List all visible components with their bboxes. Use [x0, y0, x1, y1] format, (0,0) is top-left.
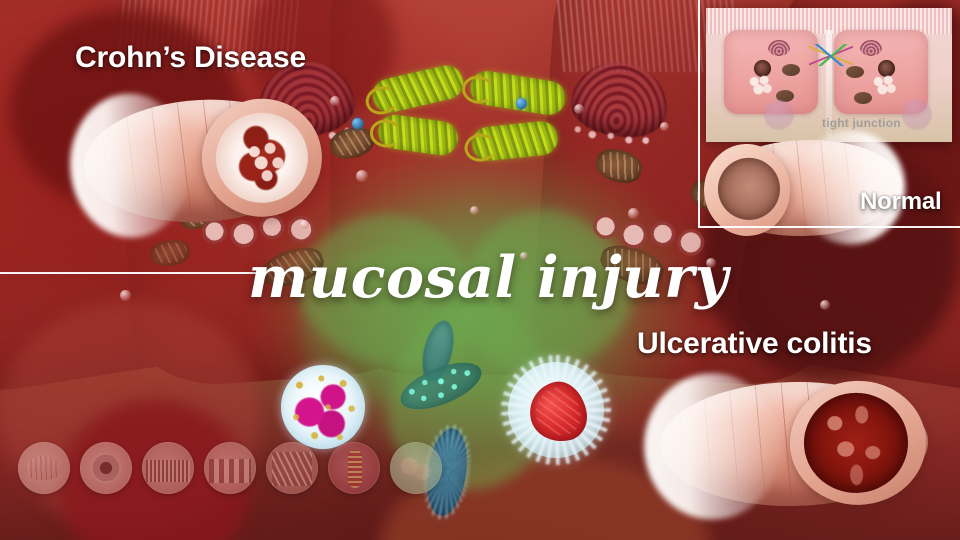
title-divider-rule — [0, 272, 258, 274]
mitochondrion-icon — [846, 66, 864, 78]
golgi-apparatus-icon — [768, 40, 790, 56]
normal-inset-panel[interactable]: tight junction — [706, 8, 952, 142]
cytoplasm-blob — [902, 100, 932, 130]
chapter-thumbnail-strip[interactable] — [18, 442, 442, 494]
macrophage-cell — [508, 362, 604, 458]
secretory-vesicle — [330, 96, 340, 106]
secretory-vesicle — [120, 290, 131, 301]
chapter-thumbnail[interactable] — [80, 442, 132, 494]
secretory-vesicle — [628, 208, 639, 219]
colon-lumen-ulcerated — [803, 392, 909, 494]
crohn-disease-label: Crohn’s Disease — [75, 41, 306, 75]
mitochondrion-icon — [782, 64, 800, 76]
cobblestone-mucosa — [245, 139, 291, 185]
chapter-thumbnail[interactable] — [266, 442, 318, 494]
secretory-vesicle — [574, 104, 584, 114]
tight-junction-label: tight junction — [822, 116, 901, 130]
secretory-vesicle — [660, 122, 669, 131]
chapter-thumbnail[interactable] — [204, 442, 256, 494]
page-title: mucosal injury — [248, 244, 728, 311]
uc-colon-specimen — [659, 380, 923, 509]
secretory-vesicle — [356, 170, 368, 182]
chapter-thumbnail[interactable] — [390, 442, 442, 494]
secretory-vesicle — [820, 300, 830, 310]
ion-particle — [516, 98, 527, 109]
chapter-thumbnail[interactable] — [18, 442, 70, 494]
normal-label: Normal — [860, 188, 942, 216]
cytoplasm-blob — [764, 100, 794, 130]
mitochondrion-icon — [854, 92, 872, 104]
rough-endoplasmic-reticulum-icon — [872, 74, 898, 96]
chapter-thumbnail[interactable] — [328, 442, 380, 494]
rough-endoplasmic-reticulum-icon — [748, 74, 774, 96]
illustration-stage: tight junction Crohn’s Disease Ulcerativ… — [0, 0, 960, 540]
chapter-thumbnail[interactable] — [142, 442, 194, 494]
crohn-colon-specimen — [81, 94, 319, 228]
ion-particle — [352, 118, 363, 129]
secretory-vesicle — [300, 220, 309, 229]
neutrophil-cell — [281, 365, 365, 449]
secretory-vesicle — [470, 206, 479, 215]
golgi-apparatus-icon — [860, 40, 882, 56]
ulcerative-colitis-label: Ulcerative colitis — [637, 327, 872, 361]
tight-junction-icon — [809, 44, 853, 66]
